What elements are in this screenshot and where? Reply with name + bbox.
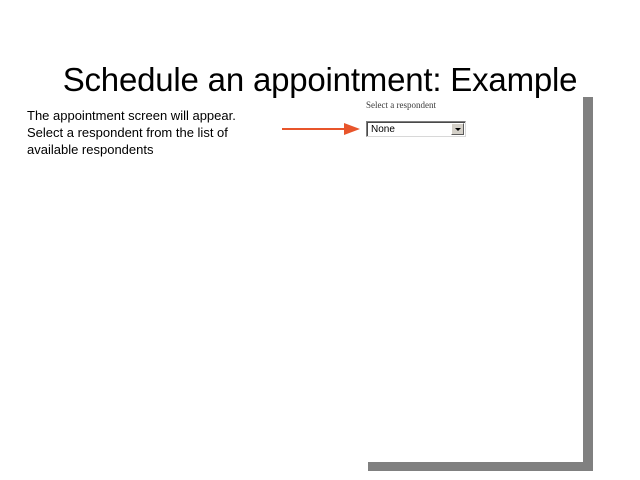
- respondent-select[interactable]: None: [366, 121, 466, 137]
- window-shadow-bottom: [368, 462, 593, 471]
- slide-body-text: The appointment screen will appear. Sele…: [27, 107, 262, 158]
- slide-canvas: Schedule an appointment: Example The app…: [0, 0, 640, 480]
- arrow-right-icon: [282, 120, 366, 138]
- window-shadow-right: [583, 97, 593, 470]
- page-title: Schedule an appointment: Example: [0, 60, 640, 100]
- chevron-down-icon: [455, 128, 461, 131]
- select-a-respondent-label: Select a respondent: [366, 100, 436, 111]
- respondent-select-dropdown-button[interactable]: [451, 123, 464, 135]
- respondent-select-value: None: [371, 123, 395, 136]
- embedded-screenshot: Select a respondent None: [362, 96, 592, 471]
